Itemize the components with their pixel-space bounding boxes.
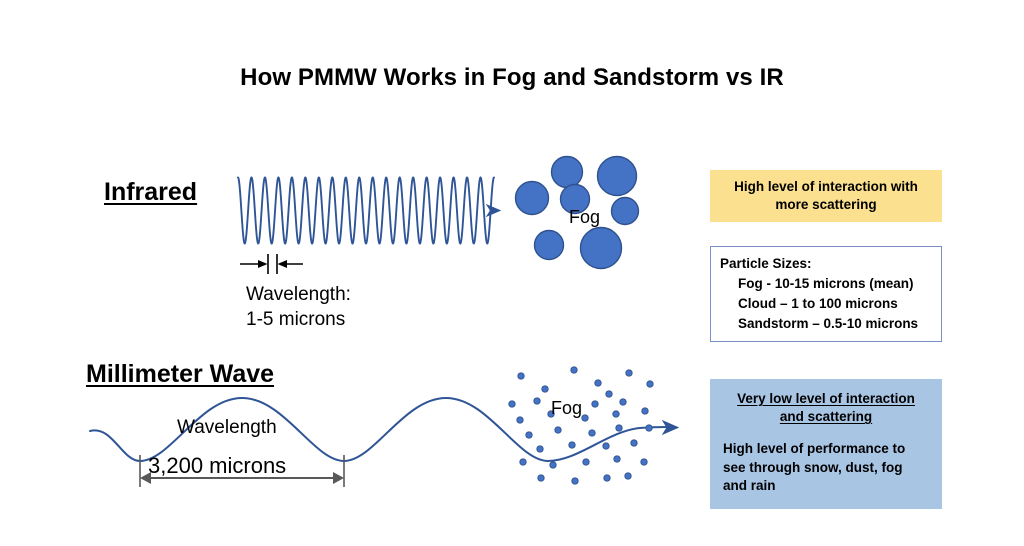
performance-heading: Very low level of interaction and scatte… xyxy=(723,390,929,426)
infrared-section-label: Infrared xyxy=(104,178,197,207)
fog-particle xyxy=(552,157,583,188)
infrared-wavelength-line1: Wavelength: xyxy=(246,283,351,308)
particle-size-item-fog: Fog - 10-15 microns (mean) xyxy=(720,274,941,294)
fog-particle xyxy=(598,157,637,196)
millimeter-wavelength-line1: Wavelength xyxy=(177,416,277,441)
slide-canvas: How PMMW Works in Fog and Sandstorm vs I… xyxy=(0,0,1024,546)
infrared-waveform xyxy=(238,178,500,244)
millimeter-wavelength-line2: 3,200 microns xyxy=(148,452,286,481)
scattering-line1: High level of interaction with xyxy=(734,179,918,194)
performance-heading-line1: Very low level of interaction xyxy=(737,391,915,406)
fog-particle xyxy=(581,228,622,269)
infrared-wavelength-caption: Wavelength: 1-5 microns xyxy=(246,283,351,332)
fog-label-infrared: Fog xyxy=(569,207,600,228)
particle-sizes-heading: Particle Sizes: xyxy=(720,254,941,274)
performance-heading-line2: and scattering xyxy=(780,409,872,424)
particle-size-item-cloud: Cloud – 1 to 100 microns xyxy=(720,294,941,314)
scattering-callout-box: High level of interaction with more scat… xyxy=(710,170,942,222)
scattering-line2: more scattering xyxy=(775,197,876,212)
performance-body-line3: and rain xyxy=(723,478,776,493)
page-title: How PMMW Works in Fog and Sandstorm vs I… xyxy=(0,64,1024,92)
fog-label-millimeter: Fog xyxy=(551,398,582,419)
fog-particles-small xyxy=(509,367,653,484)
particle-size-item-sandstorm: Sandstorm – 0.5-10 microns xyxy=(720,314,941,334)
fog-particle xyxy=(535,231,564,260)
infrared-arrowhead xyxy=(487,205,500,216)
infrared-wavelength-marker xyxy=(240,254,303,274)
performance-callout-box: Very low level of interaction and scatte… xyxy=(710,379,942,509)
performance-body: High level of performance to see through… xyxy=(723,440,929,495)
infrared-wavelength-line2: 1-5 microns xyxy=(246,308,351,333)
fog-particle xyxy=(612,198,639,225)
performance-body-line1: High level of performance to xyxy=(723,441,905,456)
millimeter-section-label: Millimeter Wave xyxy=(86,360,274,389)
particle-sizes-box: Particle Sizes: Fog - 10-15 microns (mea… xyxy=(710,246,942,342)
millimeter-arrowhead xyxy=(663,421,678,434)
performance-body-line2: see through snow, dust, fog xyxy=(723,460,903,475)
fog-particle xyxy=(516,182,549,215)
